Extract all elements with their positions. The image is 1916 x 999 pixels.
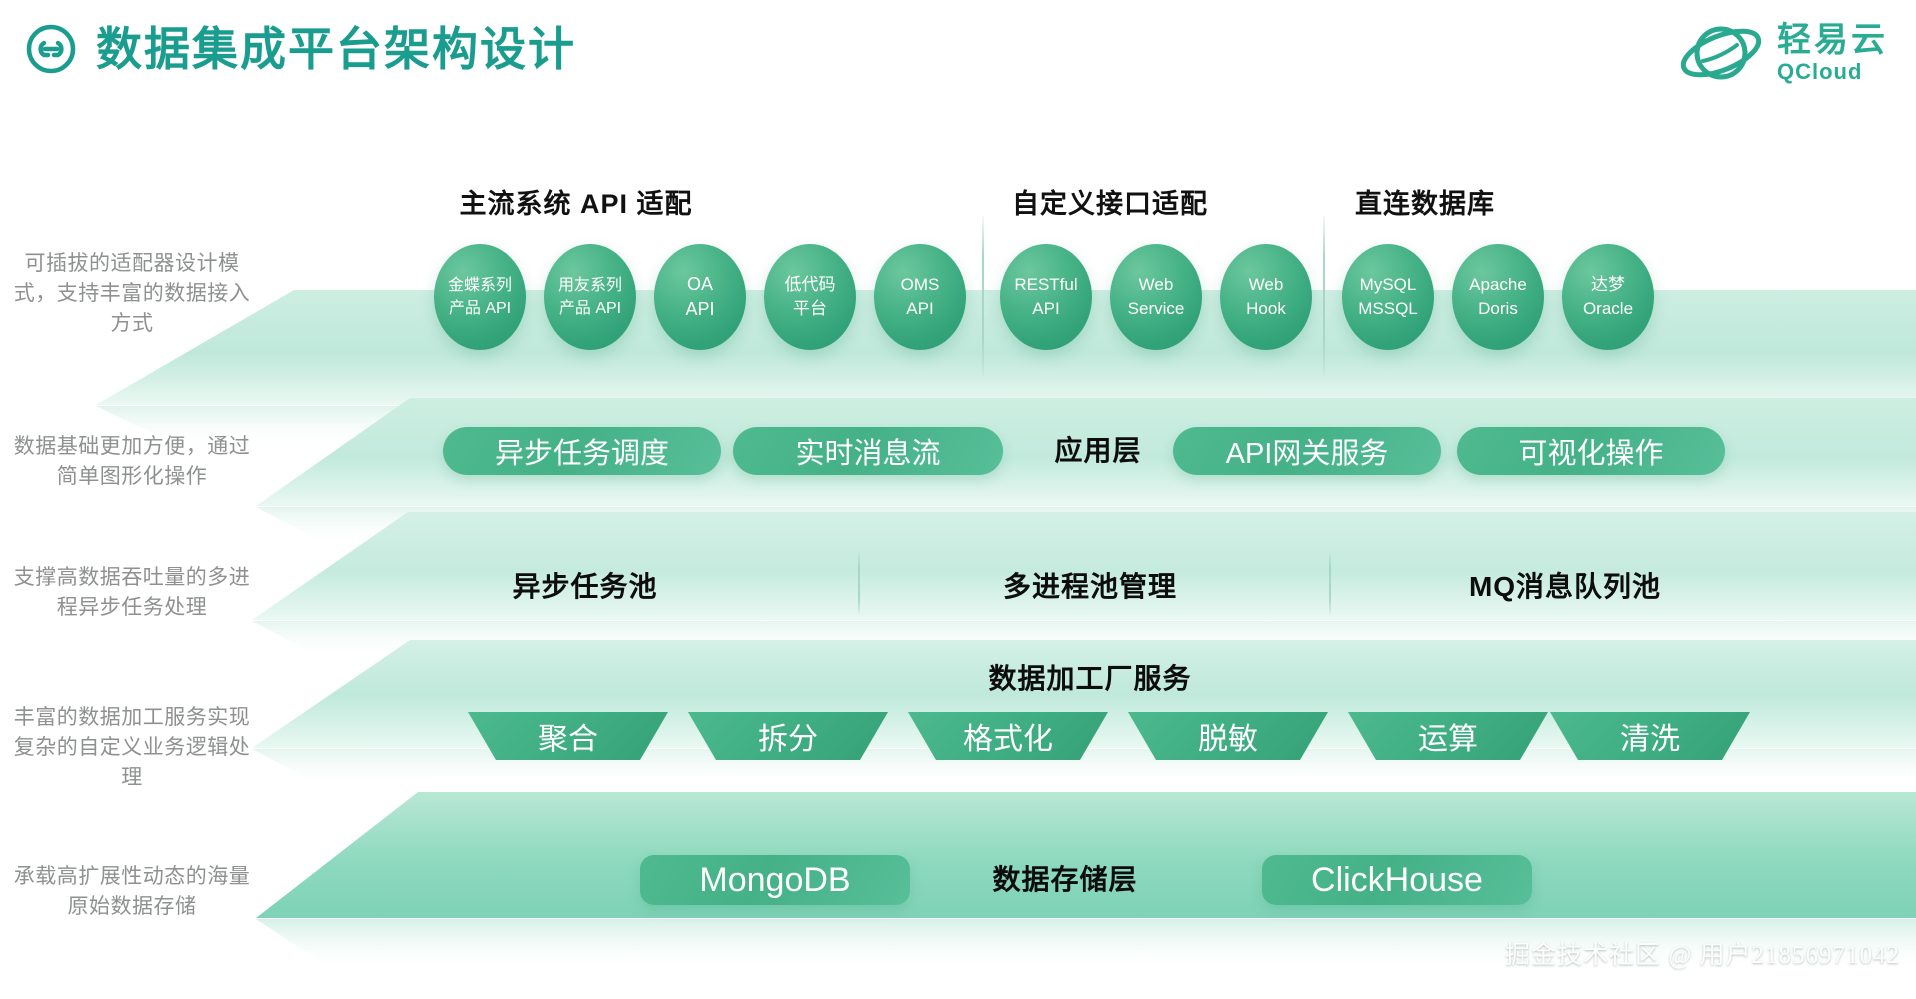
process-chip[interactable]: 聚合 — [468, 712, 668, 760]
layer-description-data-factory: 丰富的数据加工服务实现复杂的自定义业务逻辑处理 — [8, 703, 256, 793]
layer-description-application: 数据基础更加方便，通过简单图形化操作 — [8, 432, 256, 492]
layer-description-process-pool: 支撑高数据吞吐量的多进程异步任务处理 — [8, 563, 256, 623]
pool-divider-2 — [1329, 552, 1331, 614]
storage-pill[interactable]: MongoDB — [640, 855, 910, 905]
layer-title-data-factory: 数据加工厂服务 — [930, 660, 1250, 698]
storage-pill[interactable]: ClickHouse — [1262, 855, 1532, 905]
link-chain-icon — [24, 22, 78, 76]
adapter-node[interactable]: Apache Doris — [1452, 244, 1544, 350]
group-heading-direct-database: 直连数据库 — [1330, 182, 1520, 221]
layer-description-adapter: 可插拔的适配器设计模式，支持丰富的数据接入方式 — [8, 249, 256, 339]
application-pill[interactable]: 异步任务调度 — [443, 427, 721, 475]
layer-description-storage: 承载高扩展性动态的海量原始数据存储 — [8, 862, 256, 922]
pool-divider-1 — [858, 552, 860, 614]
process-chip[interactable]: 清洗 — [1550, 712, 1750, 760]
adapter-node[interactable]: 达梦 Oracle — [1562, 244, 1654, 350]
adapter-node[interactable]: 低代码 平台 — [764, 244, 856, 350]
process-chip[interactable]: 运算 — [1348, 712, 1548, 760]
application-pill[interactable]: 实时消息流 — [733, 427, 1003, 475]
pool-label: MQ消息队列池 — [1430, 568, 1700, 606]
group-heading-custom-interface: 自定义接口适配 — [1000, 182, 1220, 221]
watermark: 掘金技术社区 @ 用户21856971042 — [1505, 935, 1900, 971]
group-divider-1 — [982, 216, 984, 376]
adapter-node[interactable]: MySQL MSSQL — [1342, 244, 1434, 350]
layer-title-storage: 数据存储层 — [950, 861, 1180, 899]
adapter-node[interactable]: 用友系列 产品 API — [544, 244, 636, 350]
pool-label: 多进程池管理 — [955, 568, 1225, 606]
planet-ring-logo-icon — [1675, 13, 1767, 93]
application-pill[interactable]: 可视化操作 — [1457, 427, 1725, 475]
adapter-node[interactable]: 金蝶系列 产品 API — [434, 244, 526, 350]
process-chip[interactable]: 脱敏 — [1128, 712, 1328, 760]
adapter-node[interactable]: Web Hook — [1220, 244, 1312, 350]
adapter-node[interactable]: OA API — [654, 244, 746, 350]
pool-label: 异步任务池 — [450, 568, 720, 606]
page-header: 数据集成平台架构设计 轻易云 QCloud — [0, 0, 1916, 110]
adapter-node[interactable]: OMS API — [874, 244, 966, 350]
architecture-diagram: 数据集成平台架构设计 轻易云 QCloud — [0, 0, 1916, 999]
application-pill[interactable]: API网关服务 — [1173, 427, 1441, 475]
group-divider-2 — [1323, 216, 1325, 376]
process-chip[interactable]: 格式化 — [908, 712, 1108, 760]
brand-name-cn: 轻易云 — [1777, 22, 1888, 58]
page-title: 数据集成平台架构设计 — [96, 22, 576, 76]
brand-logo: 轻易云 QCloud — [1675, 10, 1888, 96]
group-heading-mainstream-api: 主流系统 API 适配 — [456, 182, 696, 221]
process-chip[interactable]: 拆分 — [688, 712, 888, 760]
brand-name-en: QCloud — [1777, 60, 1862, 84]
adapter-node[interactable]: RESTful API — [1000, 244, 1092, 350]
adapter-node[interactable]: Web Service — [1110, 244, 1202, 350]
layer-title-application: 应用层 — [1023, 432, 1173, 470]
